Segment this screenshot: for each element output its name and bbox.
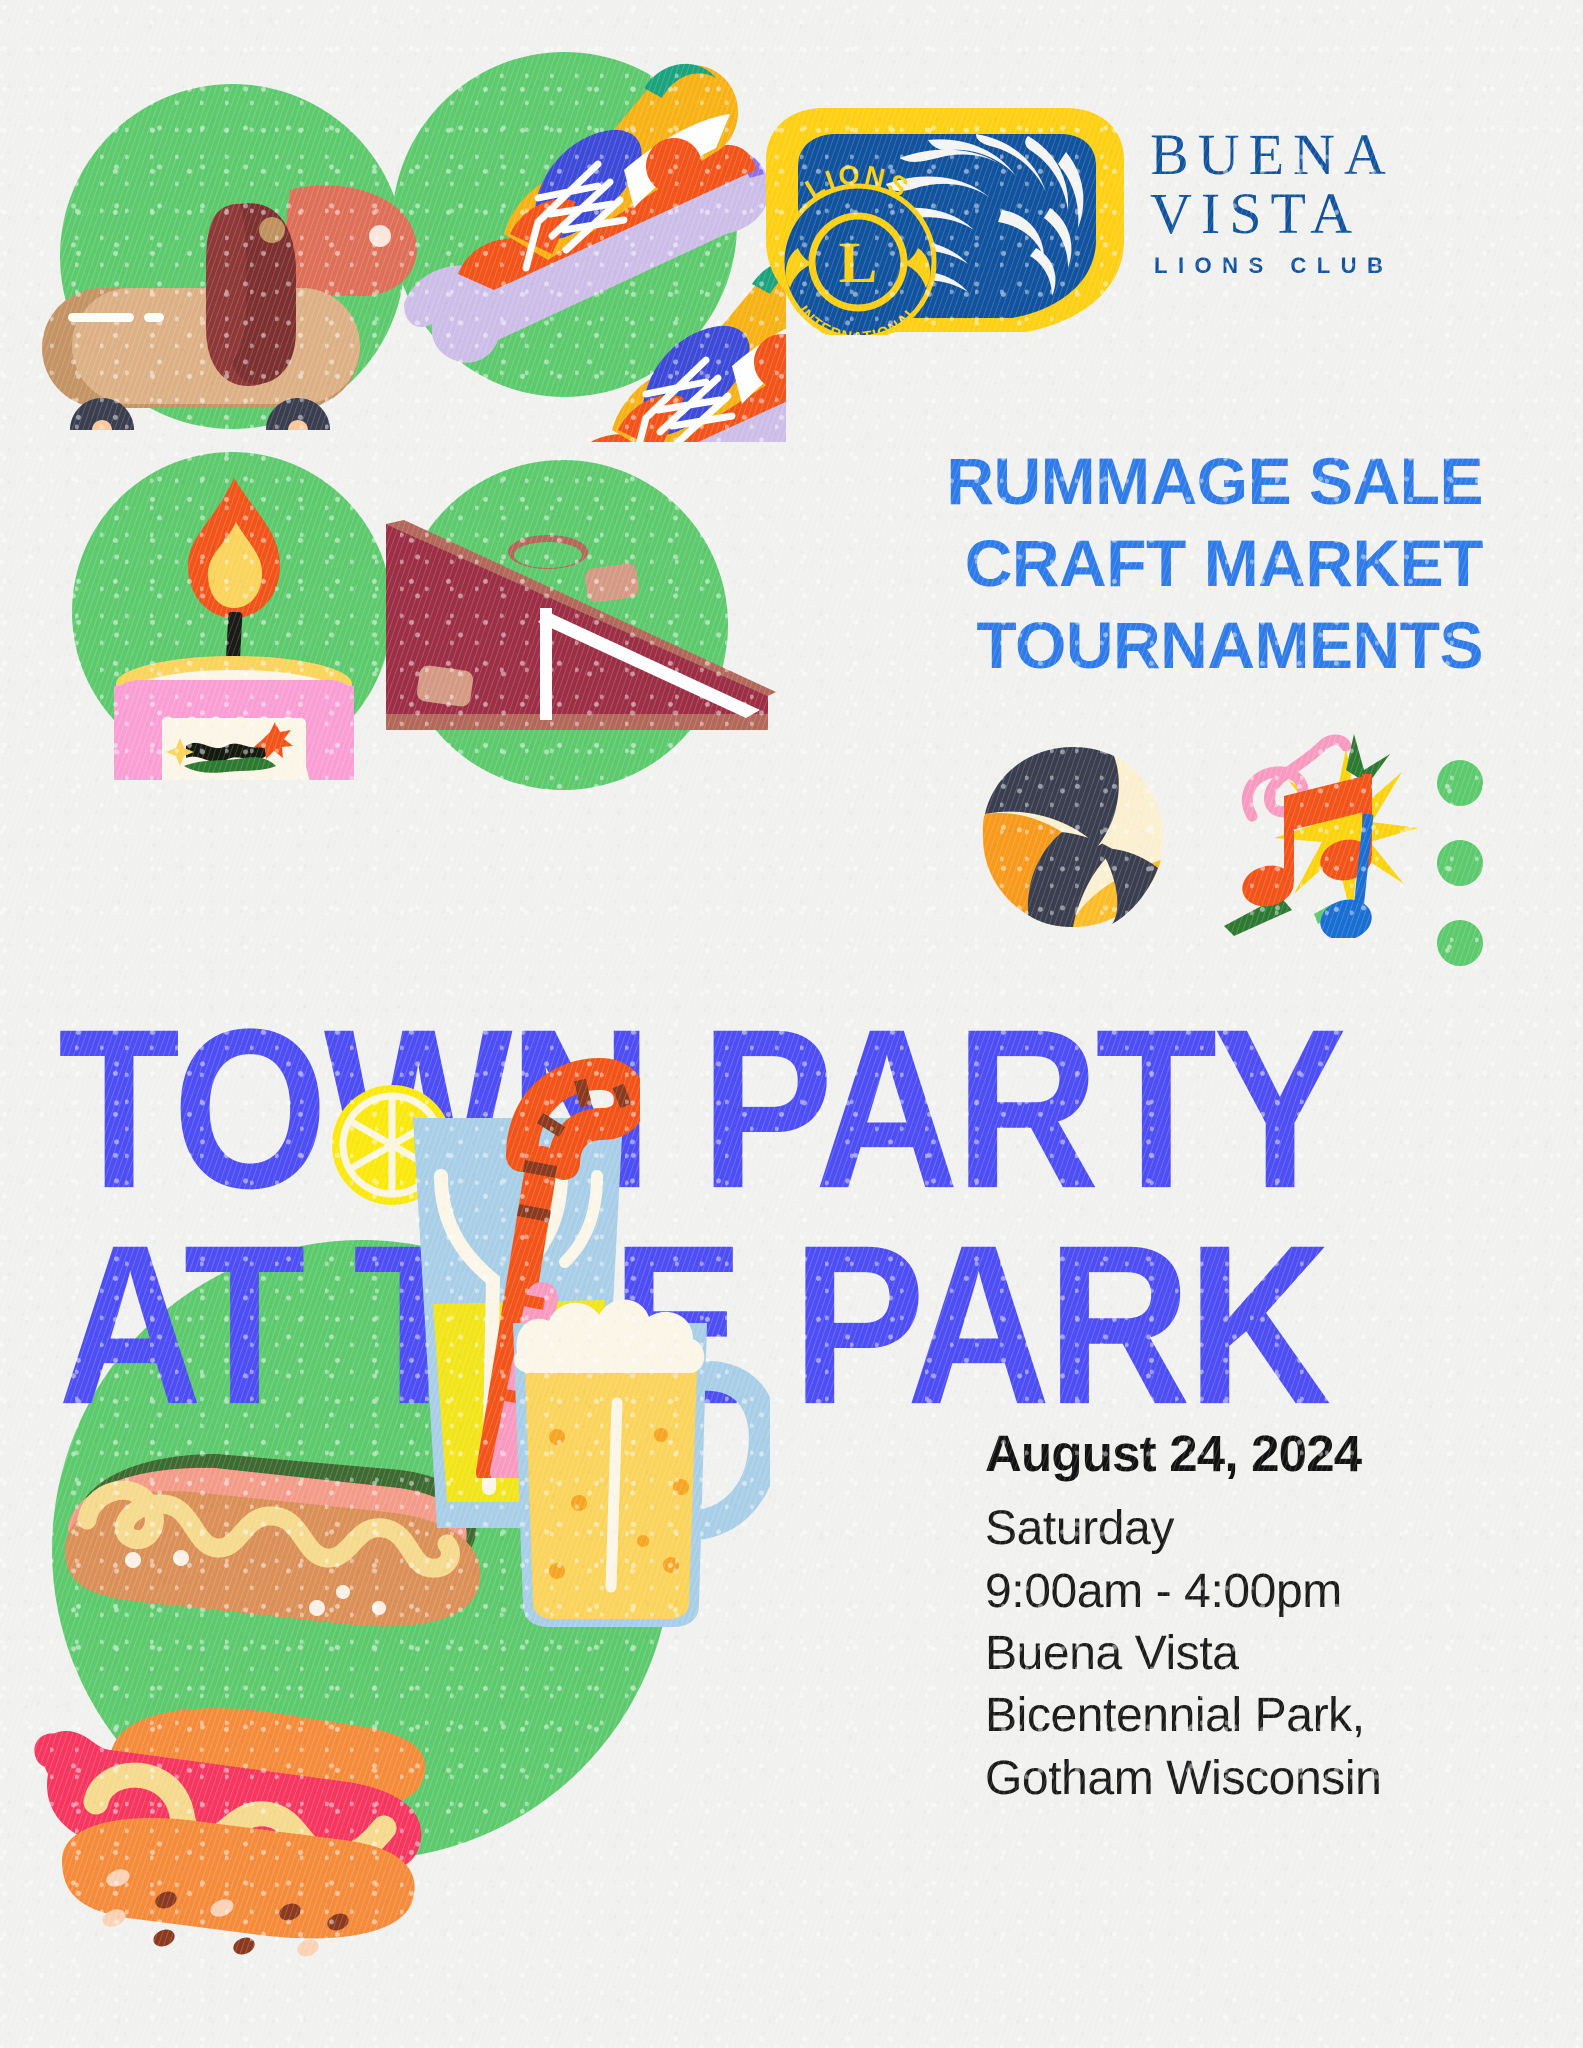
cornhole-board-icon: [370, 500, 790, 750]
feature-rummage-sale: RUMMAGE SALE: [946, 448, 1483, 514]
running-shoes-icon: [386, 22, 786, 442]
title-line-1: TOWN PARTY: [58, 1005, 1568, 1214]
poster-canvas: L LIONS INTERNATIONAL BUENA VISTA LIONS …: [0, 0, 1583, 2048]
org-name-line-2: VISTA: [1150, 184, 1480, 243]
hotdog-cart-icon: [40, 100, 420, 430]
lions-club-logo: L LIONS INTERNATIONAL BUENA VISTA LIONS …: [940, 105, 1480, 335]
feature-craft-market: CRAFT MARKET: [965, 530, 1483, 596]
event-details: August 24, 2024 Saturday 9:00am - 4:00pm…: [985, 1425, 1545, 1810]
beer-mug-icon: [495, 1235, 770, 1630]
org-name-sub: LIONS CLUB: [1154, 253, 1480, 279]
lions-shield-icon: L LIONS INTERNATIONAL: [740, 100, 1150, 335]
decor-dot-2: [1437, 840, 1483, 886]
feature-tournaments: TOURNAMENTS: [976, 612, 1483, 678]
hotdog-bun-icon: [18, 1650, 458, 1960]
music-notes-confetti-icon: [1218, 718, 1418, 938]
decor-dot-3: [1437, 920, 1483, 966]
page-title: TOWN PARTY AT THE PARK: [58, 1005, 1538, 1402]
event-venue-line-2: Bicentennial Park,: [985, 1685, 1545, 1747]
org-name-line-1: BUENA: [1150, 125, 1480, 184]
event-time: 9:00am - 4:00pm: [985, 1561, 1545, 1623]
event-venue-line-1: Buena Vista: [985, 1623, 1545, 1685]
lions-emblem-letter: L: [839, 230, 878, 295]
lions-club-wordmark: BUENA VISTA LIONS CLUB: [1150, 125, 1480, 279]
event-venue-line-3: Gotham Wisconsin: [985, 1748, 1545, 1810]
scented-candle-icon: [84, 470, 384, 780]
event-date: August 24, 2024: [985, 1425, 1545, 1482]
event-day: Saturday: [985, 1498, 1545, 1560]
decor-dot-1: [1437, 760, 1483, 806]
volleyball-icon: [978, 742, 1168, 932]
